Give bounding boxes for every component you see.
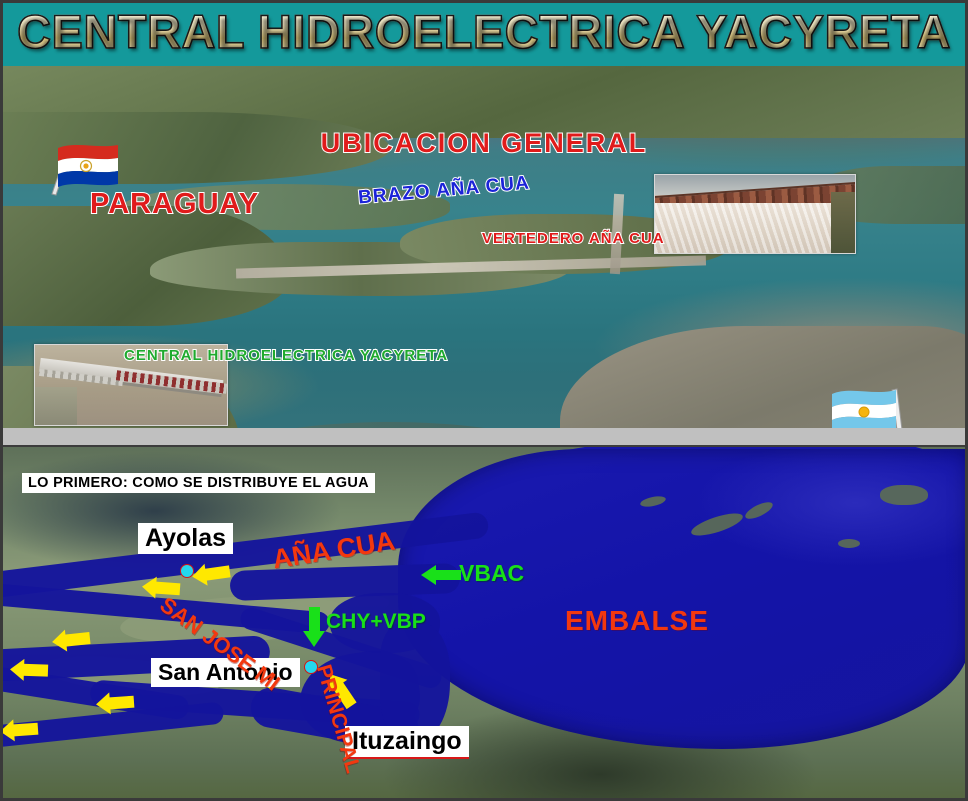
ubicacion-general-panel: UBICACION GENERAL PARAGUAY BRAZO AÑA CUA… <box>0 66 968 430</box>
slide-header: CENTRAL HIDROELECTRICA YACYRETA <box>0 0 968 66</box>
argentina-flag-icon <box>828 384 910 430</box>
flow-arrow <box>51 627 91 653</box>
discharge-label-chy-vbp: CHY+VBP <box>326 610 426 634</box>
photo-right-bank <box>831 192 855 253</box>
distribucion-del-agua-panel <box>0 445 968 801</box>
map-label-embalse: EMBALSE <box>565 605 709 637</box>
city-label-ayolas: Ayolas <box>138 523 233 554</box>
city-marker-ayolas <box>180 564 194 578</box>
section-subtitle-ubicacion-general: UBICACION GENERAL <box>0 128 968 159</box>
spillway-photo-inset <box>654 174 856 254</box>
chy-vbp-discharge-arrow <box>303 607 325 647</box>
map-label-central-hidroelectrica-yacyreta: CENTRAL HIDROELECTRICA YACYRETA <box>124 347 448 364</box>
discharge-label-vbac: VBAC <box>459 560 524 587</box>
satellite-imagery-bottom <box>0 447 968 801</box>
flow-arrow <box>10 658 49 681</box>
page-title: CENTRAL HIDROELECTRICA YACYRETA <box>0 4 968 59</box>
photo-water-foam <box>655 203 855 253</box>
reservoir-island <box>838 539 860 548</box>
flow-arrow <box>0 718 39 743</box>
reservoir-island <box>880 485 928 505</box>
river-channel <box>380 623 450 743</box>
vbac-discharge-arrow <box>421 565 461 585</box>
map-label-paraguay: PARAGUAY <box>90 188 259 221</box>
city-label-ituzaingo: Ituzaingo <box>345 726 469 759</box>
panel-separator <box>0 428 968 445</box>
map-label-vertedero-ana-cua: VERTEDERO AÑA CUA <box>482 230 665 247</box>
slide-root: CENTRAL HIDROELECTRICA YACYRETA <box>0 0 968 801</box>
photo-left-bank <box>35 387 77 425</box>
caption-lo-primero: LO PRIMERO: COMO SE DISTRIBUYE EL AGUA <box>22 473 375 493</box>
flow-arrow <box>95 691 134 716</box>
